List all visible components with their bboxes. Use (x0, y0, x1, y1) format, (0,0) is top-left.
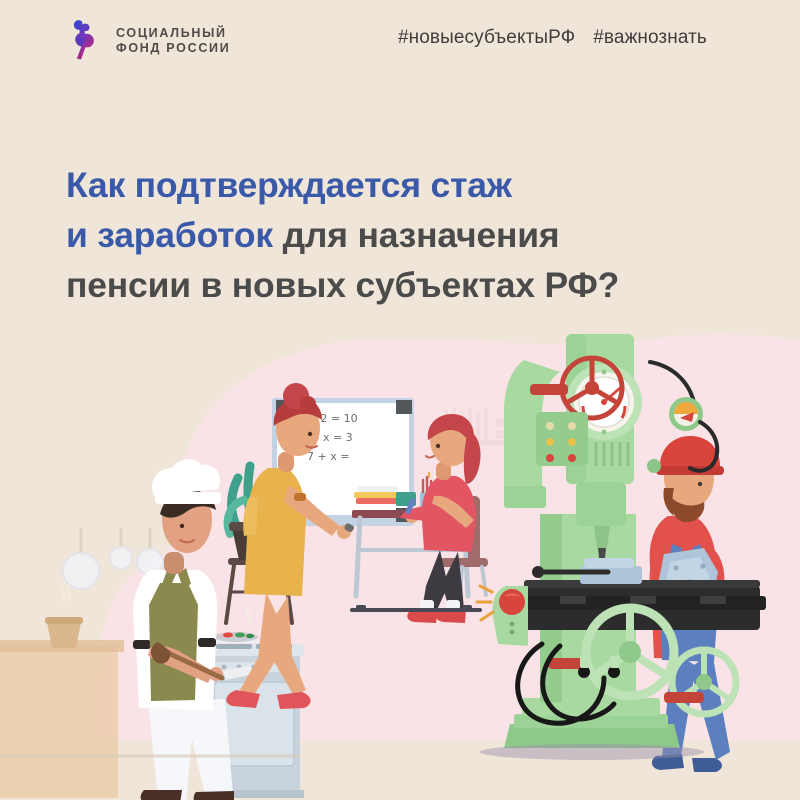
poster-header: СОЦИАЛЬНЫЙ ФОНД РОССИИ #новыесубъектыРФ#… (0, 0, 800, 100)
sfr-monogram-logo-icon (60, 18, 106, 64)
steaming-pot (45, 582, 83, 648)
brand-logo: СОЦИАЛЬНЫЙ ФОНД РОССИИ (60, 18, 230, 64)
whiteboard-equation-3: 7 + x = (307, 450, 349, 463)
hashtag-1: #новыесубъектыРФ (398, 27, 575, 48)
title-line-3: пенсии в новых субъектах РФ? (66, 265, 619, 305)
hashtag-2: #важнознать (593, 27, 707, 48)
brand-name-line-1: СОЦИАЛЬНЫЙ (116, 26, 230, 41)
title-highlight-line-1: Как подтверждается стаж (66, 165, 512, 205)
title-rest-line-2: для назначения (273, 215, 559, 255)
hashtag-row: #новыесубъектыРФ#важнознать (398, 27, 707, 49)
title-highlight-line-2: и заработок (66, 215, 273, 255)
page-title: Как подтверждается стаж и заработок для … (66, 160, 766, 310)
brand-name-line-2: ФОНД РОССИИ (116, 41, 230, 56)
brand-name: СОЦИАЛЬНЫЙ ФОНД РОССИИ (116, 26, 230, 57)
illustration-scene: x - 2 = 10 5 - x = 3 7 + x = (0, 300, 800, 800)
poster-canvas: СОЦИАЛЬНЫЙ ФОНД РОССИИ #новыесубъектыРФ#… (0, 0, 800, 800)
